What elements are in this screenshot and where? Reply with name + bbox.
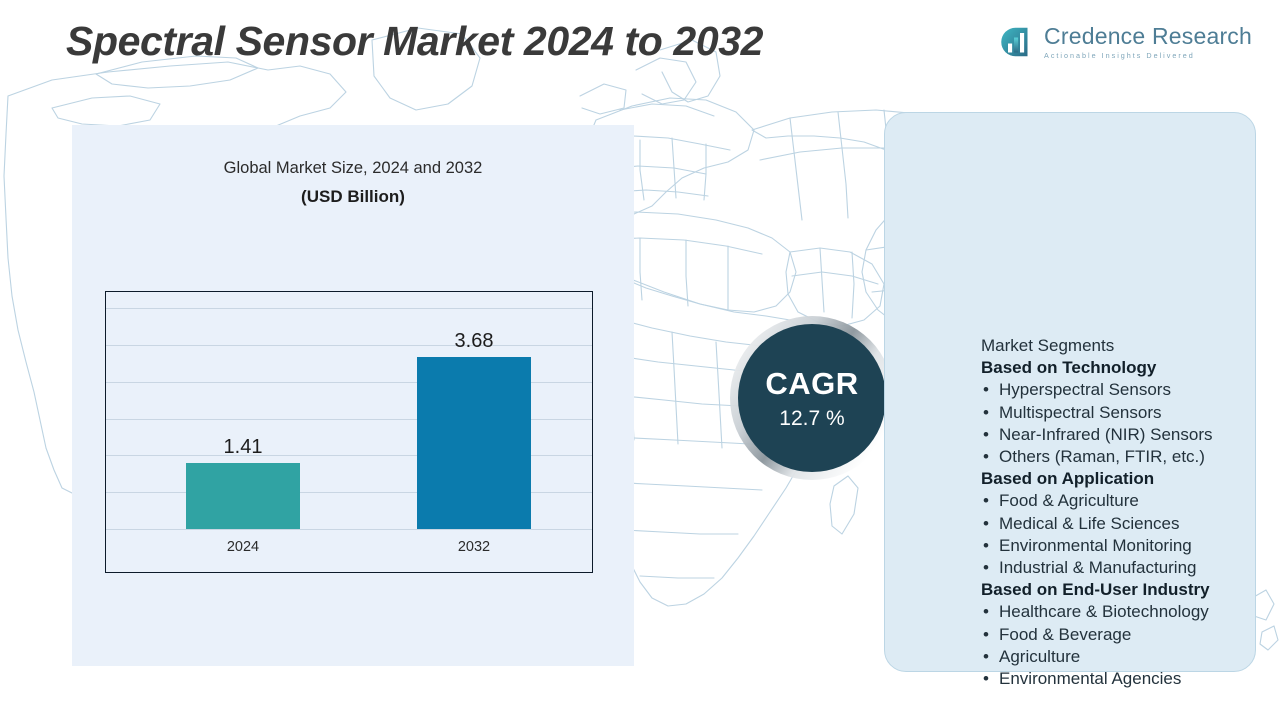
logo-tagline: Actionable Insights Delivered (1044, 51, 1252, 60)
segment-item: Agriculture (981, 646, 1280, 668)
infographic-root: Spectral Sensor Market 2024 to 2032 Cred… (0, 0, 1280, 720)
brand-logo: Credence Research Actionable Insights De… (999, 24, 1252, 60)
segment-item: Industrial & Manufacturing (981, 557, 1280, 579)
segment-item: Multispectral Sensors (981, 402, 1280, 424)
segment-item: Food & Agriculture (981, 490, 1280, 512)
bar-value-label-2032: 3.68 (455, 330, 494, 353)
segment-item: Healthcare & Biotechnology (981, 601, 1280, 623)
chart-panel: Global Market Size, 2024 and 2032 (USD B… (72, 125, 634, 666)
segment-item: Food & Beverage (981, 624, 1280, 646)
page-title: Spectral Sensor Market 2024 to 2032 (66, 18, 763, 65)
bar-series-container: 1.4120243.682032 (106, 292, 592, 572)
logo-text-block: Credence Research Actionable Insights De… (1044, 24, 1252, 59)
bar-group-2032: 3.682032 (417, 357, 531, 529)
chart-title: Global Market Size, 2024 and 2032 (72, 159, 634, 178)
bar-category-label-2024: 2024 (227, 539, 259, 555)
segment-item: Medical & Life Sciences (981, 513, 1280, 535)
segment-item: Others (Raman, FTIR, etc.) (981, 446, 1280, 468)
bar-value-label-2024: 1.41 (224, 436, 263, 459)
bar-chart-plot-area: 1.4120243.682032 (105, 291, 593, 573)
bar-2032[interactable] (417, 357, 531, 529)
bar-group-2024: 1.412024 (186, 463, 300, 529)
chart-subtitle: (USD Billion) (72, 187, 634, 207)
segment-group-heading-0: Based on Technology (981, 357, 1280, 379)
bar-chart-circle-icon (999, 24, 1035, 60)
bar-2024[interactable] (186, 463, 300, 529)
cagr-value: 12.7 % (779, 408, 844, 429)
segment-item: Environmental Agencies (981, 668, 1280, 690)
segment-item: Hyperspectral Sensors (981, 379, 1280, 401)
segment-group-heading-2: Based on End-User Industry (981, 579, 1280, 601)
market-segments-list: Market SegmentsBased on TechnologyHypers… (981, 335, 1280, 690)
segment-item: Environmental Monitoring (981, 535, 1280, 557)
market-segments-panel: Market SegmentsBased on TechnologyHypers… (884, 112, 1256, 672)
cagr-label: CAGR (765, 368, 858, 399)
segment-group-heading-1: Based on Application (981, 468, 1280, 490)
segment-item: Near-Infrared (NIR) Sensors (981, 424, 1280, 446)
bar-category-label-2032: 2032 (458, 539, 490, 555)
logo-brand-name: Credence Research (1044, 24, 1252, 48)
cagr-badge: CAGR 12.7 % (738, 324, 886, 472)
segments-heading: Market Segments (981, 335, 1280, 357)
cagr-circle: CAGR 12.7 % (738, 324, 886, 472)
